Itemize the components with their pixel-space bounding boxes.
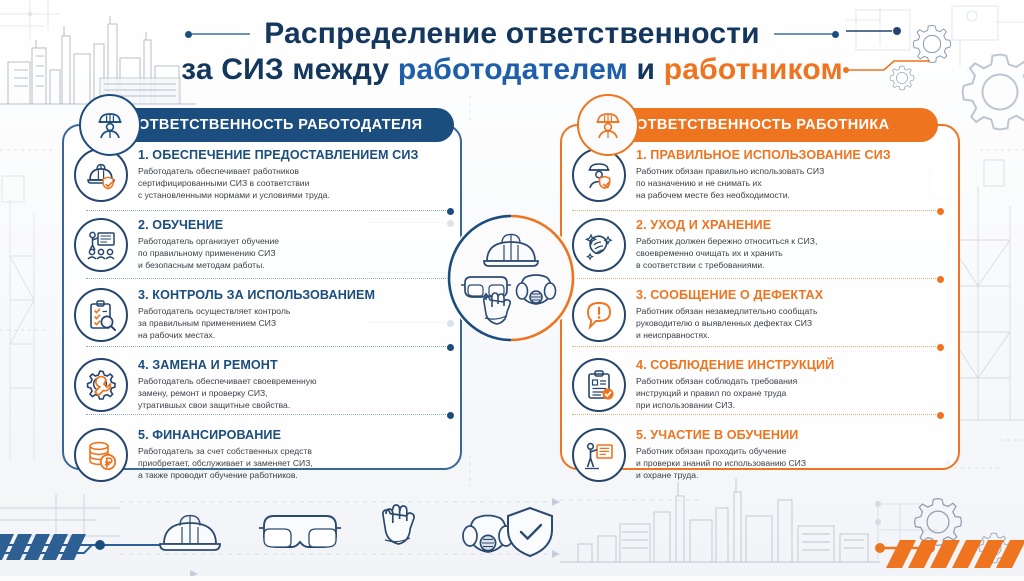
goggles-icon — [259, 516, 341, 547]
employer-header-label: ОТВЕТСТВЕННОСТЬ РАБОТОДАТЕЛЯ — [138, 117, 422, 133]
title-decoration-right — [774, 31, 839, 38]
item-title: 5. ФИНАНСИРОВАНИЕ — [138, 428, 313, 442]
item-description: Работодатель за счет собственных средств… — [138, 445, 313, 482]
item-separator — [572, 278, 940, 279]
training-board-icon — [74, 218, 128, 272]
worker-panel: 1. ПРАВИЛЬНОЕ ИСПОЛЬЗОВАНИЕ СИЗ Работник… — [560, 124, 960, 470]
hardhat-shield-icon — [74, 148, 128, 202]
title-decoration-left — [185, 31, 250, 38]
page-title: Распределение ответственности за СИЗ меж… — [0, 4, 1024, 100]
list-item[interactable]: 3. КОНТРОЛЬ ЗА ИСПОЛЬЗОВАНИЕМ Работодате… — [64, 286, 460, 342]
item-description: Работодатель осуществляет контроль за пр… — [138, 305, 375, 342]
list-item[interactable]: 2. УХОД И ХРАНЕНИЕ Работник должен береж… — [562, 216, 958, 272]
worker-helmet-badge-icon — [79, 94, 141, 156]
list-item[interactable]: 1. ПРАВИЛЬНОЕ ИСПОЛЬЗОВАНИЕ СИЗ Работник… — [562, 146, 958, 202]
cleaning-hand-sparkle-icon — [572, 218, 626, 272]
item-separator — [572, 346, 940, 347]
speech-bubble-alert-icon — [572, 288, 626, 342]
worker-shield-icon — [572, 148, 626, 202]
item-description: Работник должен бережно относиться к СИЗ… — [636, 235, 817, 272]
clipboard-magnifier-icon — [74, 288, 128, 342]
item-title: 5. УЧАСТИЕ В ОБУЧЕНИИ — [636, 428, 806, 442]
employer-panel: 1. ОБЕСПЕЧЕНИЕ ПРЕДОСТАВЛЕНИЕМ СИЗ Работ… — [62, 124, 462, 470]
coins-ruble-icon — [74, 428, 128, 482]
gloves-icon — [383, 505, 414, 544]
list-item[interactable]: 5. УЧАСТИЕ В ОБУЧЕНИИ Работник обязан пр… — [562, 426, 958, 482]
item-description: Работник обязан незамедлительно сообщать… — [636, 305, 823, 342]
list-item[interactable]: 5. ФИНАНСИРОВАНИЕ Работодатель за счет с… — [64, 426, 460, 482]
item-description: Работодатель обеспечивает своевременную … — [138, 375, 317, 412]
gear-wrench-icon — [74, 358, 128, 412]
list-item[interactable]: 4. ЗАМЕНА И РЕМОНТ Работодатель обеспечи… — [64, 356, 460, 412]
title-line-2: за СИЗ между работодателем и работником — [181, 53, 843, 87]
shield-check-icon — [508, 508, 552, 556]
list-item[interactable]: 1. ОБЕСПЕЧЕНИЕ ПРЕДОСТАВЛЕНИЕМ СИЗ Работ… — [64, 146, 460, 202]
worker-helmet-badge-icon — [577, 94, 639, 156]
worker-panel-header: ОТВЕТСТВЕННОСТЬ РАБОТНИКА — [580, 108, 938, 142]
item-description: Работодатель обеспечивает работников сер… — [138, 165, 418, 202]
clipboard-check-icon — [572, 358, 626, 412]
infographic-root: Распределение ответственности за СИЗ меж… — [0, 0, 1024, 576]
employer-panel-header: ОТВЕТСТВЕННОСТЬ РАБОТОДАТЕЛЯ — [82, 108, 454, 142]
title-line-2a: за СИЗ между — [181, 53, 398, 86]
item-description: Работник обязан соблюдать требования инс… — [636, 375, 834, 412]
ppe-equipment-circle — [446, 213, 576, 343]
list-item[interactable]: 3. СООБЩЕНИЕ О ДЕФЕКТАХ Работник обязан … — [562, 286, 958, 342]
item-separator — [86, 278, 450, 279]
item-separator — [86, 210, 450, 211]
item-separator — [572, 210, 940, 211]
presenter-board-icon — [572, 428, 626, 482]
item-description: Работодатель организует обучение по прав… — [138, 235, 279, 272]
item-description: Работник обязан правильно использовать С… — [636, 165, 891, 202]
item-title: 1. ПРАВИЛЬНОЕ ИСПОЛЬЗОВАНИЕ СИЗ — [636, 148, 891, 162]
employer-item-list: 1. ОБЕСПЕЧЕНИЕ ПРЕДОСТАВЛЕНИЕМ СИЗ Работ… — [64, 144, 460, 482]
list-item[interactable]: 4. СОБЛЮДЕНИЕ ИНСТРУКЦИЙ Работник обязан… — [562, 356, 958, 412]
item-title: 4. ЗАМЕНА И РЕМОНТ — [138, 358, 317, 372]
item-separator — [86, 414, 450, 415]
hardhat-icon — [160, 516, 220, 550]
title-highlight-worker: работником — [664, 53, 843, 86]
item-title: 3. КОНТРОЛЬ ЗА ИСПОЛЬЗОВАНИЕМ — [138, 288, 375, 302]
title-highlight-employer: работодателем — [398, 53, 628, 86]
item-separator — [572, 414, 940, 415]
item-description: Работник обязан проходить обучение и про… — [636, 445, 806, 482]
item-separator — [86, 346, 450, 347]
respirator-icon — [463, 516, 513, 553]
item-title: 3. СООБЩЕНИЕ О ДЕФЕКТАХ — [636, 288, 823, 302]
bottom-ppe-strip — [0, 490, 1024, 576]
list-item[interactable]: 2. ОБУЧЕНИЕ Работодатель организует обуч… — [64, 216, 460, 272]
worker-header-label: ОТВЕТСТВЕННОСТЬ РАБОТНИКА — [636, 117, 890, 133]
title-line-2c: и — [628, 53, 664, 86]
title-line-1: Распределение ответственности — [264, 17, 760, 51]
item-title: 1. ОБЕСПЕЧЕНИЕ ПРЕДОСТАВЛЕНИЕМ СИЗ — [138, 148, 418, 162]
item-title: 2. ОБУЧЕНИЕ — [138, 218, 279, 232]
item-title: 4. СОБЛЮДЕНИЕ ИНСТРУКЦИЙ — [636, 358, 834, 372]
item-title: 2. УХОД И ХРАНЕНИЕ — [636, 218, 817, 232]
worker-item-list: 1. ПРАВИЛЬНОЕ ИСПОЛЬЗОВАНИЕ СИЗ Работник… — [562, 144, 958, 482]
